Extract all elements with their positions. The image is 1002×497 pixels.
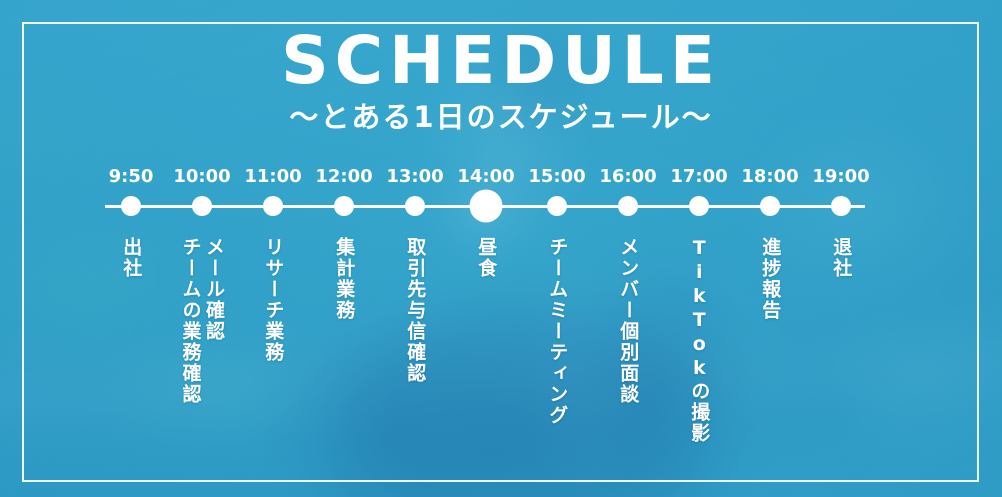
page-subtitle: 〜とある1日のスケジュール〜 <box>0 103 1002 132</box>
page-title: SCHEDULE <box>0 28 1002 94</box>
schedule-infographic: SCHEDULE 〜とある1日のスケジュール〜 9:50出社10:00メール確認… <box>0 0 1002 497</box>
